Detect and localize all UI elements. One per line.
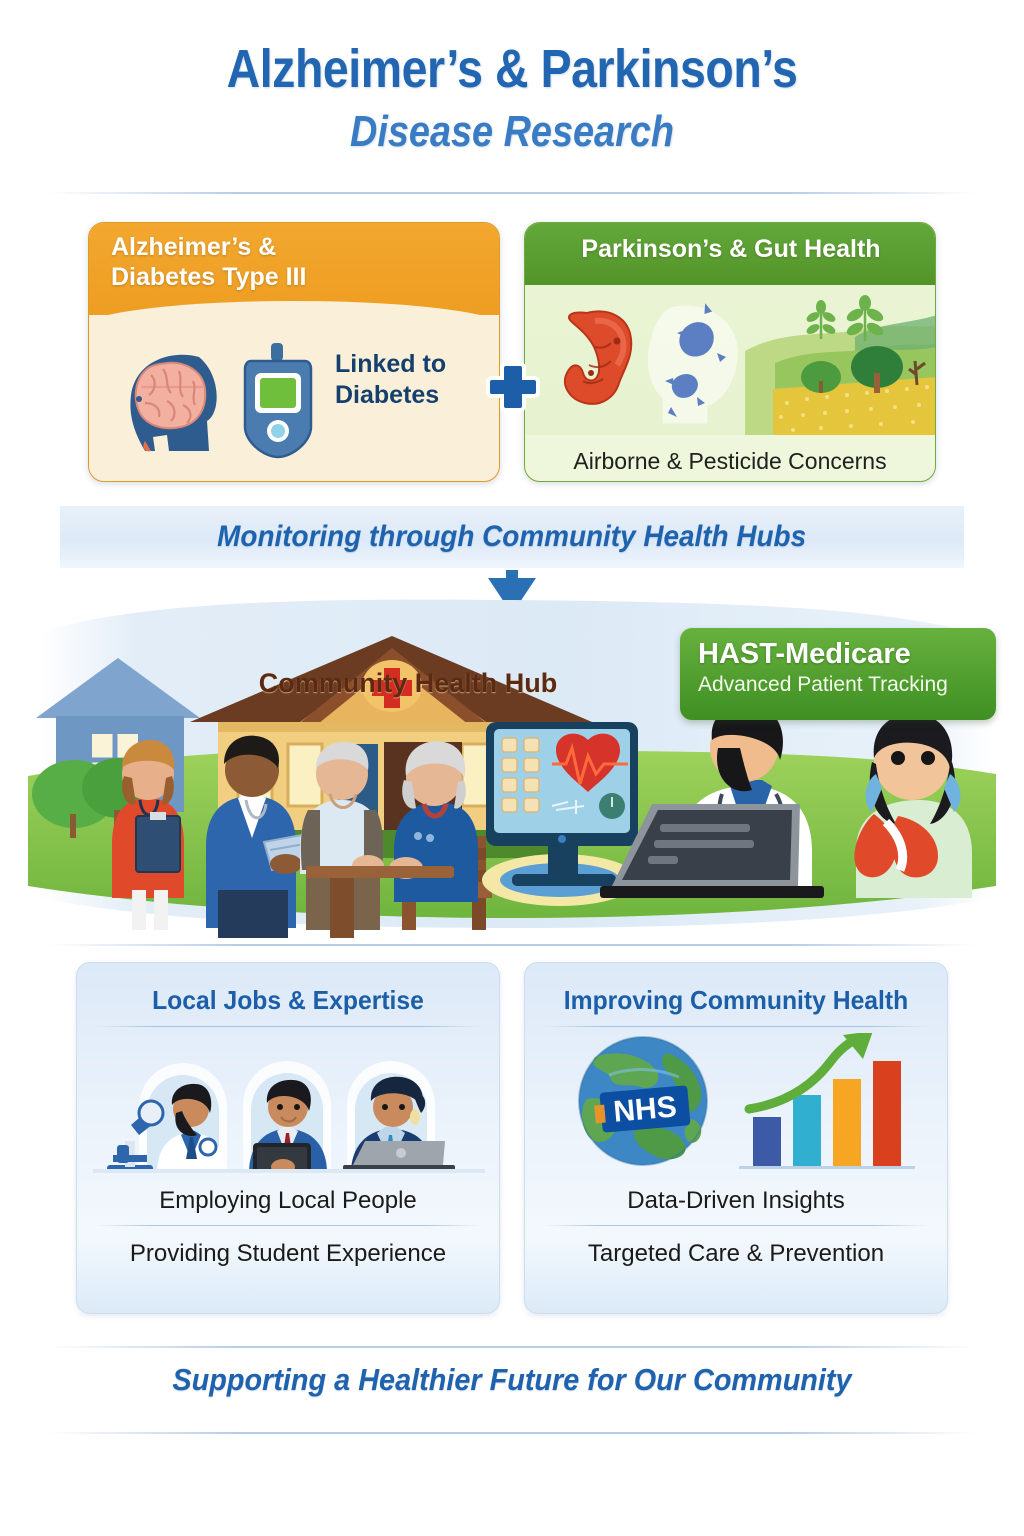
linked-to-diabetes-label: Linked to Diabetes xyxy=(335,349,485,410)
infographic-page: Alzheimer’s & Parkinson’s Disease Resear… xyxy=(0,0,1024,1536)
card-alzheimers-body: Linked to Diabetes xyxy=(89,315,499,482)
page-title: Alzheimer’s & Parkinson’s Disease Resear… xyxy=(0,40,1024,157)
divider-middle xyxy=(48,944,976,946)
divider-footer-top xyxy=(48,1346,976,1348)
plus-icon xyxy=(486,360,540,414)
card-improving-health[interactable]: Improving Community Health NHS xyxy=(524,962,948,1314)
title-main: Alzheimer’s & Parkinson’s xyxy=(72,40,953,98)
footer-text: Supporting a Healthier Future for Our Co… xyxy=(36,1362,988,1398)
divider-top xyxy=(48,192,976,194)
improving-health-illustration: NHS xyxy=(525,1033,947,1173)
card-improving-health-line1: Data-Driven Insights xyxy=(525,1173,947,1215)
card-parkinsons-caption: Airborne & Pesticide Concerns xyxy=(525,448,935,475)
hast-medicare-title: HAST-Medicare xyxy=(698,638,982,670)
top-card-row: Alzheimer’s & Diabetes Type III xyxy=(88,222,936,482)
gut-health-illustration xyxy=(525,285,935,435)
card-parkinsons-header: Parkinson’s & Gut Health xyxy=(525,223,935,285)
local-jobs-illustration xyxy=(77,1033,499,1173)
hub-sign-text: Community Health Hub xyxy=(248,668,568,699)
monitoring-banner-text: Monitoring through Community Health Hubs xyxy=(218,520,807,554)
card-local-jobs[interactable]: Local Jobs & Expertise xyxy=(76,962,500,1314)
globe-nhs-icon: NHS xyxy=(579,1037,707,1165)
card-local-jobs-line1: Employing Local People xyxy=(77,1173,499,1215)
card-local-jobs-line2: Providing Student Experience xyxy=(77,1226,499,1268)
card-improving-health-line2: Targeted Care & Prevention xyxy=(525,1226,947,1268)
monitoring-banner: Monitoring through Community Health Hubs xyxy=(60,506,964,568)
card-local-jobs-title: Local Jobs & Expertise xyxy=(88,963,489,1016)
title-subtitle: Disease Research xyxy=(72,108,953,156)
nhs-label: NHS xyxy=(612,1090,678,1128)
card-parkinsons-body: Airborne & Pesticide Concerns xyxy=(525,285,935,482)
card-alzheimers-header: Alzheimer’s & Diabetes Type III xyxy=(89,223,499,315)
linked-label-line2: Diabetes xyxy=(335,380,485,411)
glucose-meter-icon xyxy=(241,341,315,461)
card-parkinsons-gut[interactable]: Parkinson’s & Gut Health xyxy=(524,222,936,482)
bar-chart-icon xyxy=(739,1061,915,1169)
hast-medicare-subtitle: Advanced Patient Tracking xyxy=(698,673,982,697)
card-alzheimers-header-line2: Diabetes Type III xyxy=(111,263,479,293)
card-alzheimers-diabetes[interactable]: Alzheimer’s & Diabetes Type III xyxy=(88,222,500,482)
card-improving-health-rule xyxy=(543,1026,929,1027)
card-alzheimers-header-line1: Alzheimer’s & xyxy=(111,233,479,263)
hast-medicare-badge[interactable]: HAST-Medicare Advanced Patient Tracking xyxy=(680,628,996,720)
card-local-jobs-rule xyxy=(95,1026,481,1027)
divider-footer-bottom xyxy=(48,1432,976,1434)
card-improving-health-title: Improving Community Health xyxy=(536,963,937,1016)
linked-label-line1: Linked to xyxy=(335,349,485,380)
brain-head-icon xyxy=(111,341,231,461)
